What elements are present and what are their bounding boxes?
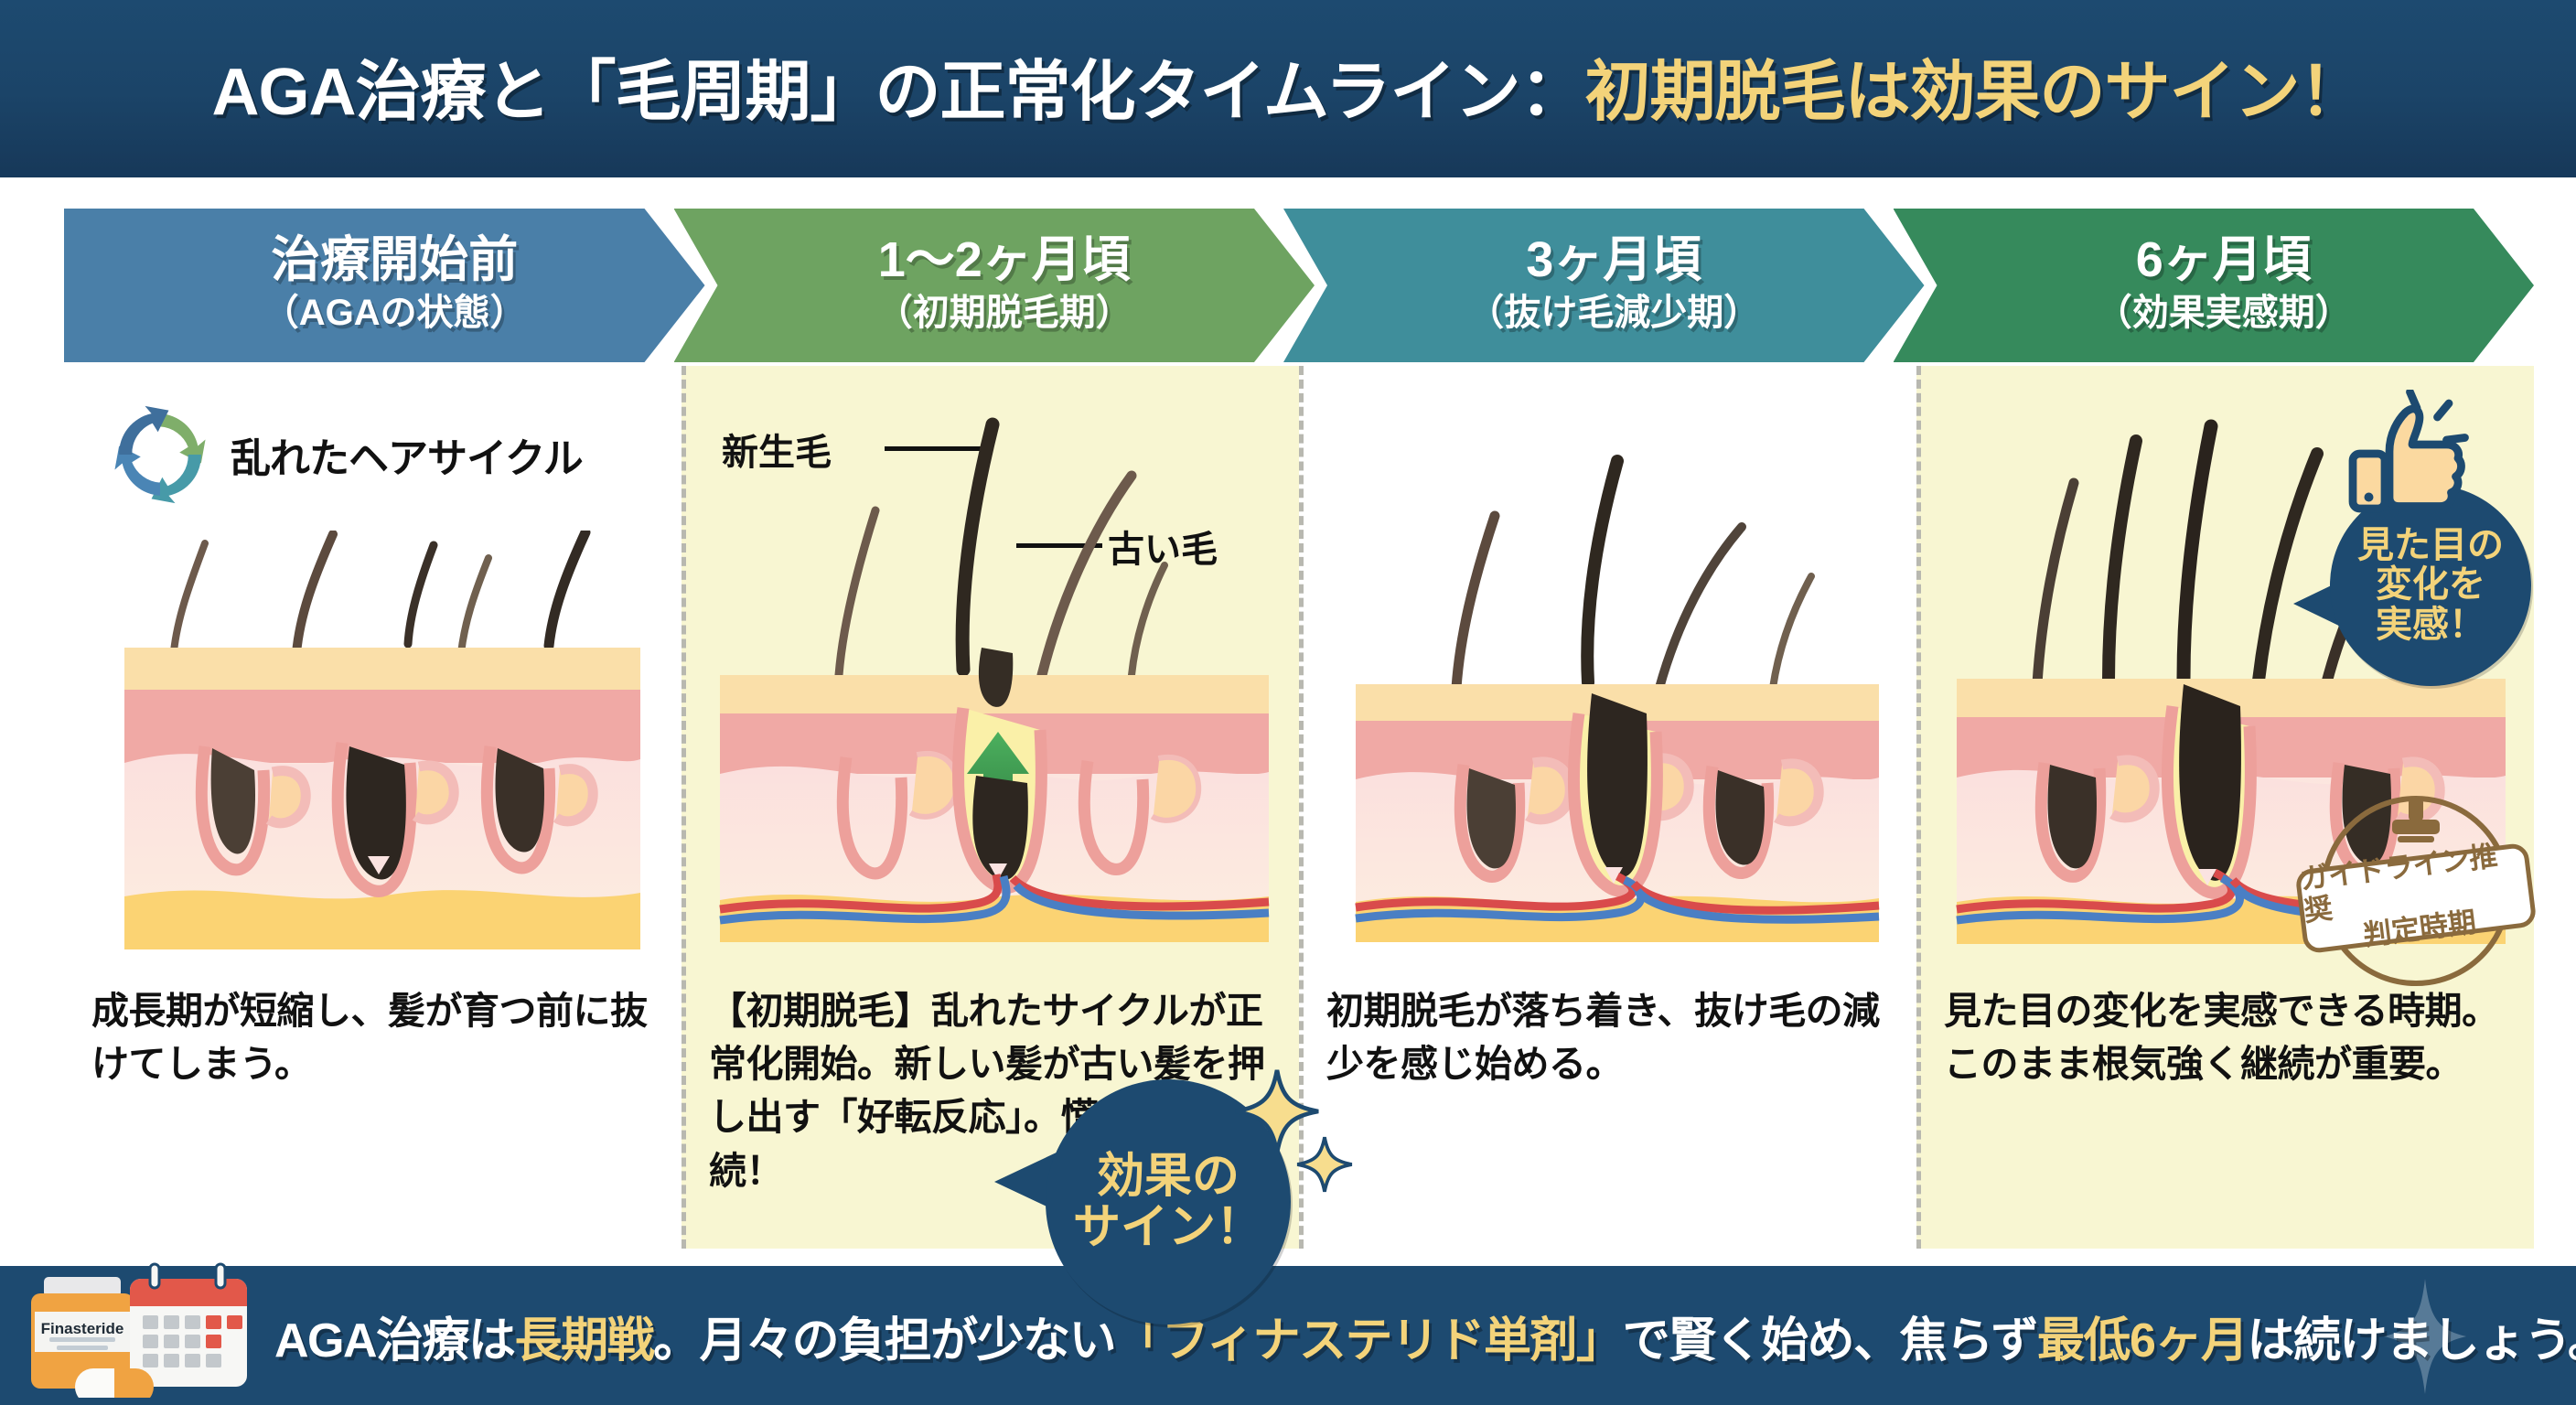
bubble-line-2: サイン！	[1073, 1202, 1263, 1253]
stage-label-sub: （効果実感期）	[2096, 290, 2352, 336]
stage-banner-3[interactable]: 3ヶ月頃 （抜け毛減少期）	[1283, 209, 1925, 362]
badge-line-1: 見た目の	[2357, 526, 2504, 565]
stage-panel-4: 見た目の 変化を 実感！ ガイドライン推奨 判定時期 見た目の変化を実感できる時…	[1916, 366, 2534, 1249]
page-title: AGA治療と「毛周期」の正常化タイムライン：初期脱毛は効果のサイン！	[212, 38, 2365, 134]
header-underline	[0, 170, 2576, 177]
footer-seg-7: は続けましょう。	[2247, 1314, 2576, 1367]
stage-banner-4[interactable]: 6ヶ月頃 （効果実感期）	[1894, 209, 2535, 362]
footer-seg-1: AGA治療は	[274, 1314, 515, 1367]
footer-message: AGA治療は長期戦。月々の負担が少ない「フィナステリド単剤」で賢く始め、焦らず最…	[274, 1302, 2576, 1370]
stage-panel-2: 新生毛 古い毛	[682, 366, 1299, 1249]
badge-line-3: 実感！	[2376, 606, 2485, 645]
skin-cross-section-diagram-2	[702, 373, 1287, 968]
bubble-line-1: 効果の	[1097, 1151, 1240, 1202]
footer-seg-6-highlight: 最低6ヶ月	[2037, 1314, 2247, 1367]
stage-caption-4: 見た目の変化を実感できる時期。このまま根気強く継続が重要。	[1944, 984, 2517, 1090]
finasteride-bottle-calendar-icon: Finasteride	[22, 1260, 267, 1398]
stage-label-sub: （抜け毛減少期）	[1467, 290, 1760, 336]
footer-seg-2-highlight: 長期戦	[515, 1314, 654, 1367]
panel-divider-left	[682, 366, 686, 1249]
hair-cycle-label: 乱れたヘアサイクル	[231, 425, 583, 484]
timeline-banners: 治療開始前 （AGAの状態） 1〜2ヶ月頃 （初期脱毛期） 3ヶ月頃 （抜け毛減…	[64, 209, 2534, 362]
sparkle-icon-small	[1296, 1136, 1353, 1193]
cycle-arrows-icon	[106, 401, 214, 509]
rubber-stamp-icon	[2388, 798, 2443, 845]
stage-label-main: 1〜2ヶ月頃	[876, 235, 1132, 285]
thumbs-up-icon	[2339, 390, 2476, 527]
skin-cross-section-diagram-1	[117, 531, 648, 970]
panel-divider-left	[1916, 366, 1921, 1249]
stage-banner-2[interactable]: 1〜2ヶ月頃 （初期脱毛期）	[674, 209, 1315, 362]
skin-cross-section-diagram-3	[1343, 439, 1892, 970]
stage-label-main: 3ヶ月頃	[1467, 235, 1760, 285]
stamp-text-band: ガイドライン推奨 判定時期	[2294, 842, 2537, 955]
hair-cycle-annotation: 乱れたヘアサイクル	[106, 401, 583, 509]
page-header: AGA治療と「毛周期」の正常化タイムライン：初期脱毛は効果のサイン！	[0, 0, 2576, 170]
stage-banner-1[interactable]: 治療開始前 （AGAの状態）	[64, 209, 705, 362]
footer-bar: Finasteride AGA治療は長期戦。月々の負担が少ない「フィナステリド単…	[0, 1266, 2576, 1405]
stage-panels: 乱れたヘアサイクル	[64, 366, 2534, 1249]
stage-caption-3: 初期脱毛が落ち着き、抜け毛の減少を感じ始める。	[1326, 984, 1900, 1090]
stage-panel-3: 初期脱毛が落ち着き、抜け毛の減少を感じ始める。	[1299, 366, 1916, 1249]
footer-seg-5: で賢く始め、焦らず	[1623, 1314, 2037, 1367]
stage-label-main: 治療開始前	[263, 235, 527, 285]
svg-text:Finasteride: Finasteride	[41, 1320, 124, 1337]
stage-caption-1: 成長期が短縮し、髪が育つ前に抜けてしまう。	[91, 984, 665, 1090]
stage-label-main: 6ヶ月頃	[2096, 235, 2352, 285]
guideline-stamp[interactable]: ガイドライン推奨 判定時期	[2313, 788, 2518, 993]
stage-label-sub: （AGAの状態）	[263, 290, 527, 336]
page-title-plain: AGA治療と「毛周期」の正常化タイムライン：	[212, 56, 1585, 129]
badge-line-2: 変化を	[2376, 565, 2485, 605]
page-title-highlight: 初期脱毛は効果のサイン！	[1584, 56, 2364, 129]
stage-label-sub: （初期脱毛期）	[876, 290, 1132, 336]
footer-seg-3: 。月々の負担が少ない	[653, 1314, 1115, 1367]
stage-panel-1: 乱れたヘアサイクル	[64, 366, 682, 1249]
